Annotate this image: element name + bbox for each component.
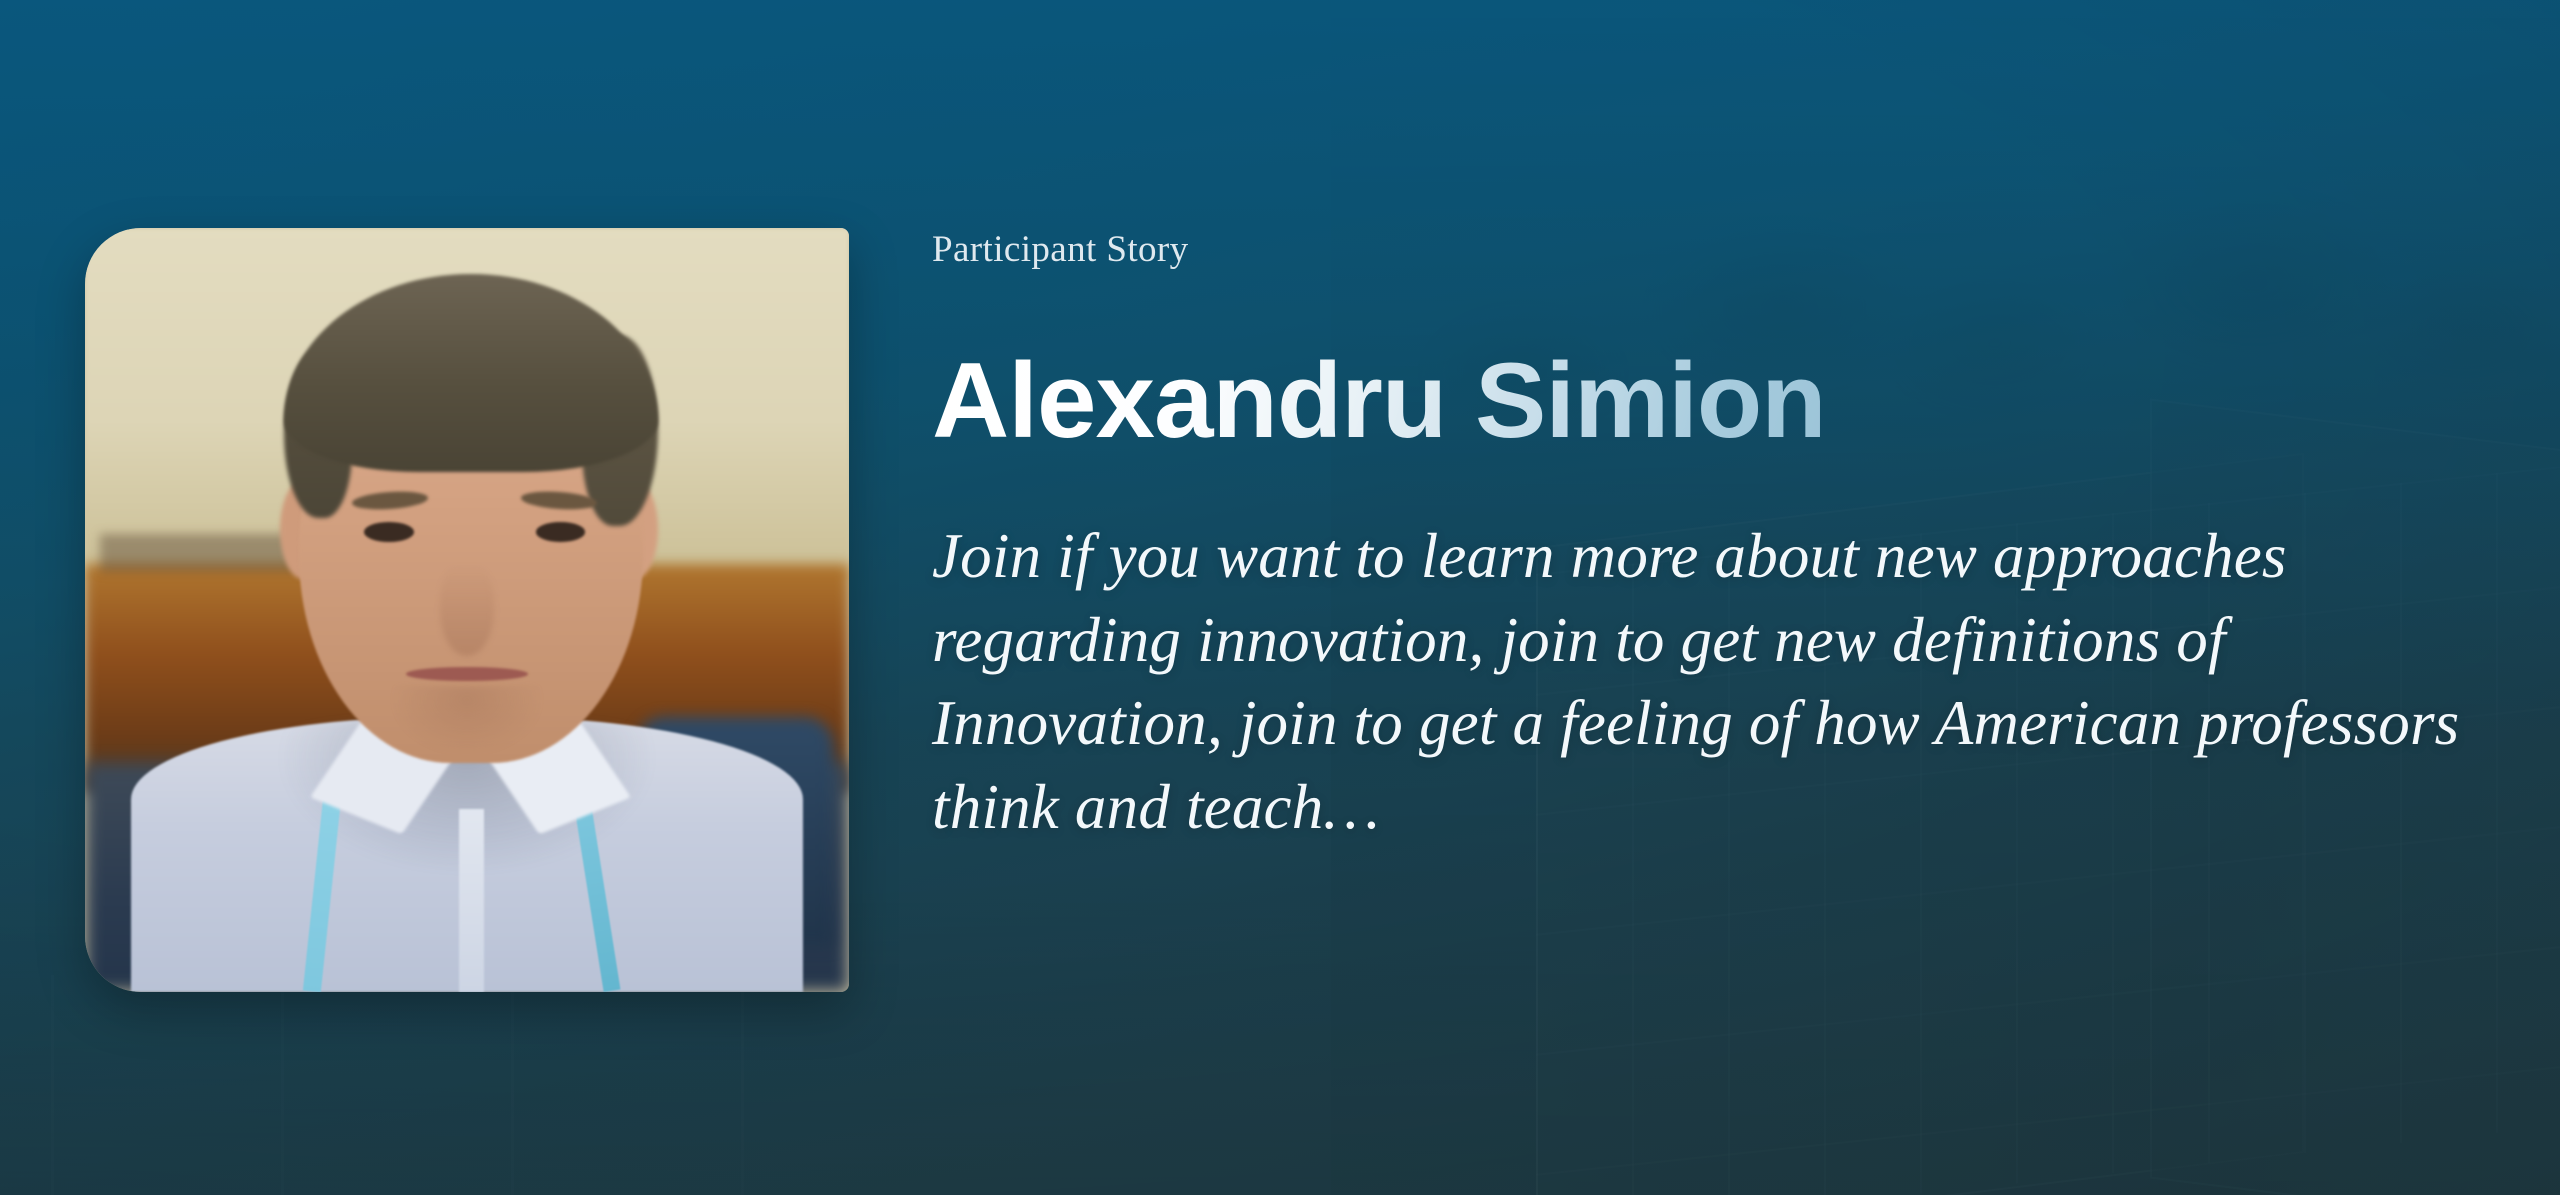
participant-portrait [85,228,849,992]
hero-content: Participant Story Alexandru Simion Join … [0,0,2560,1195]
portrait-shirt-placket [459,809,483,992]
participant-story-hero: Participant Story Alexandru Simion Join … [0,0,2560,1195]
portrait-image [85,228,849,992]
portrait-eye-left [364,522,414,542]
participant-quote: Join if you want to learn more about new… [932,515,2472,850]
portrait-chin [391,686,544,755]
portrait-nose [440,564,493,656]
portrait-eye-right [536,522,586,542]
hero-text-column: Participant Story Alexandru Simion Join … [932,228,2492,850]
portrait-mouth [406,667,528,681]
page-title: Alexandru Simion [932,344,1826,456]
eyebrow-label: Participant Story [932,228,2492,272]
